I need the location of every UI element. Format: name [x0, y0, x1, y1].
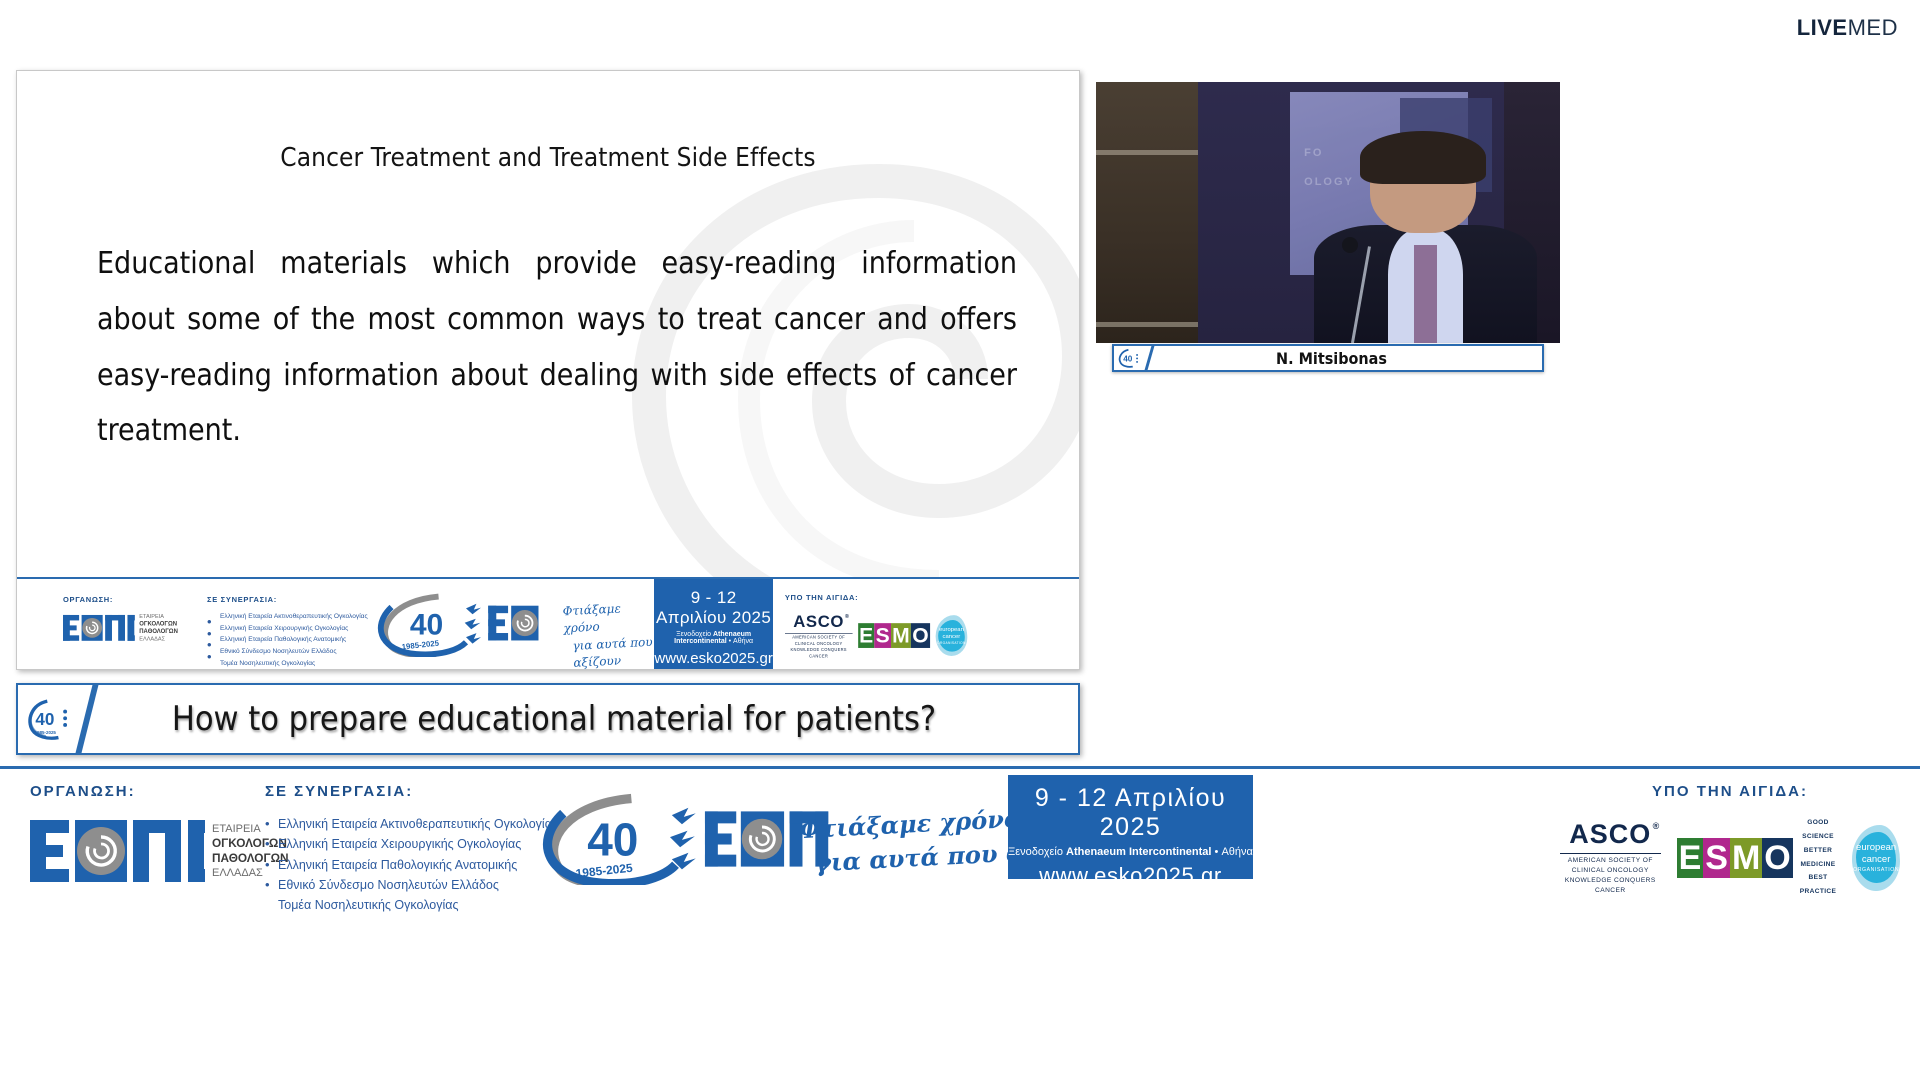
slide-tagline-line2: για αυτά που αξίζουν	[564, 633, 656, 670]
brand-live: LIVE	[1797, 15, 1848, 40]
svg-text:1985-2025: 1985-2025	[35, 730, 57, 735]
slide-body-paragraph: Educational materials which provide easy…	[97, 246, 1017, 448]
aegis-heading: ΥΠΟ ΤΗΝ ΑΙΓΙΔΑ:	[1560, 783, 1900, 800]
asco-logo: ASCO® AMERICAN SOCIETY OF CLINICAL ONCOL…	[785, 612, 852, 659]
european-cancer-organisation-logo: european cancer ORGANISATION	[1852, 825, 1900, 891]
session-title-banner: 40 1985-2025 How to prepare educational …	[16, 683, 1080, 755]
eco-line-1: european	[1856, 842, 1896, 854]
asco-tagline-1: AMERICAN SOCIETY OF CLINICAL ONCOLOGY	[1560, 856, 1661, 876]
speaker-video-feed[interactable]: FO OLOGY	[1096, 82, 1560, 343]
slide-title: Cancer Treatment and Treatment Side Effe…	[17, 143, 1079, 173]
organizer-heading: ΟΡΓΑΝΩΣΗ:	[30, 783, 289, 800]
anniversary-40-icon: 40 1985-2025	[18, 685, 84, 753]
video-background-left-wall	[1096, 82, 1198, 343]
esmo-logo: ESMO GOOD SCIENCE BETTER MEDICINE BEST P…	[1677, 816, 1837, 899]
aegis-block: ΥΠΟ ΤΗΝ ΑΙΓΙΔΑ: ASCO® AMERICAN SOCIETY O…	[1560, 783, 1900, 899]
esmo-letter-e: E	[1677, 838, 1704, 878]
esmo-logo: ESMO	[858, 623, 930, 648]
eope-full-name: ΕΤΑΙΡΕΙΑ ΟΓΚΟΛΟΓΩΝ ΠΑΘΟΛΟΓΩΝ ΕΛΛΑΔΑΣ	[139, 613, 178, 642]
european-cancer-organisation-logo: european cancer ORGANISATION	[935, 615, 967, 656]
event-website[interactable]: www.esko2025.gr	[1008, 863, 1253, 889]
eco-line-3: ORGANISATION	[1853, 867, 1899, 873]
slide-anniversary-logo: 40 1985-2025	[368, 579, 564, 669]
slide-embedded-sponsor-bar: ΟΡΓΑΝΩΣΗ:	[17, 577, 1079, 669]
slide-aegis-block: ΥΠΟ ΤΗΝ ΑΙΓΙΔΑ: ASCO® AMERICAN SOCIETY O…	[773, 579, 1079, 669]
slide-collaboration-block: ΣΕ ΣΥΝΕΡΓΑΣΙΑ: Ελληνική Εταιρεία Ακτινοθ…	[197, 579, 368, 669]
esmo-tagline-1: GOOD SCIENCE	[1800, 816, 1837, 844]
anniversary-number: 40	[587, 814, 638, 866]
anniversary-40-icon: 40	[1114, 346, 1148, 370]
esmo-tagline-3: BEST PRACTICE	[1800, 871, 1837, 899]
svg-text:40: 40	[410, 608, 443, 641]
microphone-icon	[1342, 237, 1358, 253]
slide-venue: Ξενοδοχείο Athenaeum Intercontinental • …	[654, 631, 772, 645]
esmo-letter-s: S	[1703, 838, 1730, 878]
anniversary-logo: 40 1985-2025	[500, 793, 840, 890]
slide-date-block: 9 - 12 Απριλίου 2025 Ξενοδοχείο Athenaeu…	[654, 579, 772, 669]
slide-tagline-line1: Φτιάξαμε χρόνο	[562, 599, 654, 638]
eope-mark	[63, 615, 135, 641]
slide-organizer-heading: ΟΡΓΑΝΩΣΗ:	[63, 595, 197, 604]
anniversary-years: 1985-2025	[575, 861, 634, 881]
brand-med: MED	[1848, 15, 1898, 40]
asco-logo: ASCO® AMERICAN SOCIETY OF CLINICAL ONCOL…	[1560, 819, 1661, 896]
list-item: Τομέα Νοσηλευτικής Ογκολογίας	[207, 658, 368, 670]
svg-text:40: 40	[35, 710, 54, 729]
sponsor-footer-bar: ΟΡΓΑΝΩΣΗ:	[0, 766, 1920, 1080]
speaker-hair	[1360, 131, 1485, 184]
slide-collaboration-heading: ΣΕ ΣΥΝΕΡΓΑΣΙΑ:	[207, 595, 368, 604]
slide-organizer-block: ΟΡΓΑΝΩΣΗ:	[17, 579, 197, 669]
list-item: Ελληνική Εταιρεία Παθολογικής Ανατομικής	[207, 634, 368, 646]
slide-collaborator-list: Ελληνική Εταιρεία Ακτινοθεραπευτικής Ογκ…	[207, 611, 368, 670]
esmo-letter-o: O	[1762, 838, 1792, 878]
speaker-nameplate: 40 N. Mitsibonas	[1112, 344, 1544, 372]
event-venue: Ξενοδοχείο Athenaeum Intercontinental • …	[1008, 846, 1253, 858]
svg-text:1985-2025: 1985-2025	[401, 639, 440, 652]
organizer-block: ΟΡΓΑΝΩΣΗ:	[30, 783, 289, 882]
speaker-tie	[1414, 245, 1437, 343]
esmo-letter-m: M	[1730, 838, 1762, 878]
slide-website: www.esko2025.gr	[654, 650, 772, 667]
speaker-name: N. Mitsibonas	[1155, 349, 1542, 368]
slide-tagline: Φτιάξαμε χρόνο για αυτά που αξίζουν	[564, 579, 655, 669]
slide-eope-logo: ΕΤΑΙΡΕΙΑ ΟΓΚΟΛΟΓΩΝ ΠΑΘΟΛΟΓΩΝ ΕΛΛΑΔΑΣ	[63, 613, 146, 642]
slide-body-text: Educational materials which provide easy…	[97, 236, 1017, 459]
livemed-logo: LIVEMED	[1797, 15, 1898, 41]
eope-logo: ΕΤΑΙΡΕΙΑ ΟΓΚΟΛΟΓΩΝ ΠΑΘΟΛΟΓΩΝ ΕΛΛΑΔΑΣ	[30, 820, 289, 882]
speaker-figure	[1309, 139, 1541, 343]
presentation-slide[interactable]: Cancer Treatment and Treatment Side Effe…	[16, 70, 1080, 670]
list-item: Ελληνική Εταιρεία Ακτινοθεραπευτικής Ογκ…	[207, 611, 368, 623]
asco-tagline-2: KNOWLEDGE CONQUERS CANCER	[1560, 876, 1661, 896]
list-item: Τομέα Νοσηλευτικής Ογκολογίας	[265, 895, 558, 915]
session-title: How to prepare educational material for …	[90, 699, 1078, 739]
eco-line-2: cancer	[1856, 854, 1896, 866]
slide-date: 9 - 12 Απριλίου 2025	[654, 588, 772, 628]
event-date-block: 9 - 12 Απριλίου 2025 Ξενοδοχείο Athenaeu…	[1008, 775, 1253, 879]
asco-wordmark: ASCO	[1569, 819, 1651, 849]
esmo-tagline-2: BETTER MEDICINE	[1800, 844, 1837, 872]
aegis-logo-row: ASCO® AMERICAN SOCIETY OF CLINICAL ONCOL…	[1560, 816, 1900, 899]
svg-text:40: 40	[1123, 354, 1133, 363]
slide-aegis-heading: ΥΠΟ ΤΗΝ ΑΙΓΙΔΑ:	[785, 593, 1079, 602]
list-item: Εθνικό Σύνδεσμο Νοσηλευτών Ελλάδος	[207, 646, 368, 658]
list-item: Ελληνική Εταιρεία Χειρουργικής Ογκολογία…	[207, 623, 368, 635]
top-bar: LIVEMED	[0, 0, 1920, 56]
event-dates: 9 - 12 Απριλίου 2025	[1008, 784, 1253, 842]
